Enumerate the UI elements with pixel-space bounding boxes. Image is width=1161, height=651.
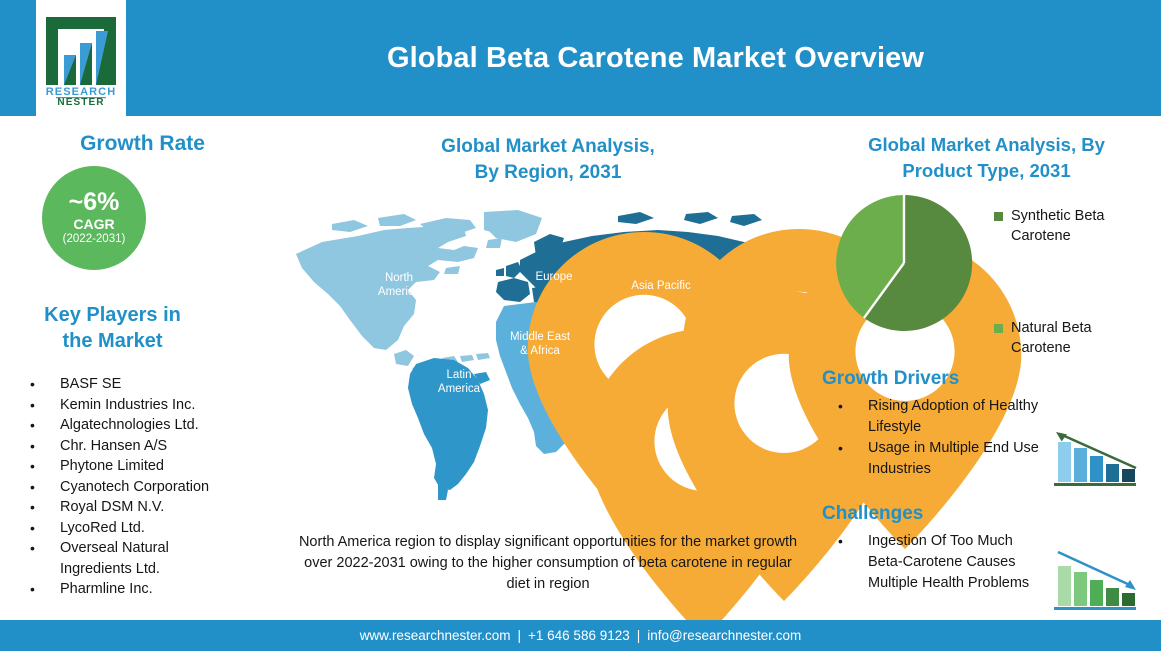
map-label-middle-east-africa: Middle East & Africa <box>494 331 586 358</box>
key-players-heading: Key Players in the Market <box>0 302 225 355</box>
legend-swatch-icon <box>994 212 1003 221</box>
world-map: North America Latin America Europe Middl… <box>288 208 808 518</box>
list-item-continuation: Lifestyle <box>830 417 1080 438</box>
challenge-text: Ingestion Of Too Much <box>868 533 1013 549</box>
product-heading-line1: Global Market Analysis, By <box>868 134 1105 155</box>
driver-text: Industries <box>868 461 931 477</box>
player-name: Overseal Natural <box>60 540 169 556</box>
bullet-icon: • <box>838 531 843 552</box>
logo-text-line2: NESTER <box>57 97 104 105</box>
player-name: Algatechnologies Ltd. <box>60 417 199 433</box>
player-name: Kemin Industries Inc. <box>60 397 195 413</box>
map-pin-europe[interactable] <box>539 229 569 269</box>
pie-chart-svg <box>834 193 974 333</box>
key-players-list: •BASF SE •Kemin Industries Inc. •Algatec… <box>22 374 287 600</box>
list-item: •Phytone Limited <box>22 456 287 477</box>
left-column: Growth Rate ~6% CAGR (2022-2031) Key Pla… <box>0 120 285 620</box>
footer-separator-2: | <box>630 628 648 643</box>
region-column: Global Market Analysis, By Region, 2031 <box>288 120 808 620</box>
map-label-asia-pacific: Asia Pacific <box>620 280 702 294</box>
list-item-continuation: Beta-Carotene Causes <box>830 552 1075 573</box>
pie-chart-legend: Synthetic Beta Carotene Natural Beta Car… <box>994 206 1161 358</box>
product-analysis-heading: Global Market Analysis, By Product Type,… <box>818 132 1155 183</box>
map-pin-middle-east-africa[interactable] <box>524 291 554 331</box>
player-name: Royal DSM N.V. <box>60 499 164 515</box>
list-item-continuation: Multiple Health Problems <box>830 573 1075 594</box>
bullet-icon: • <box>838 396 843 417</box>
region-analysis-heading: Global Market Analysis, By Region, 2031 <box>288 134 808 186</box>
map-caption-line3: consumption of beta carotene in regular … <box>506 555 791 592</box>
list-item: •Ingestion Of Too Much <box>830 531 1075 552</box>
right-column: Global Market Analysis, By Product Type,… <box>812 120 1161 620</box>
map-pin-north-america[interactable] <box>384 232 414 272</box>
list-item: •Kemin Industries Inc. <box>22 395 287 416</box>
map-label-europe: Europe <box>513 271 595 285</box>
list-item: •Chr. Hansen A/S <box>22 436 287 457</box>
legend-label-line1: Natural Beta <box>1011 320 1092 336</box>
challenges-list: •Ingestion Of Too Much Beta-Carotene Cau… <box>830 531 1075 594</box>
player-name: Phytone Limited <box>60 458 164 474</box>
list-item: •Overseal Natural <box>22 538 287 559</box>
list-item: •Rising Adoption of Healthy <box>830 396 1080 417</box>
list-item: •Royal DSM N.V. <box>22 497 287 518</box>
key-players-heading-line2: the Market <box>62 330 162 352</box>
legend-item-natural: Natural Beta Carotene <box>994 318 1161 358</box>
key-players-heading-line1: Key Players in <box>44 304 181 326</box>
challenge-text: Beta-Carotene Causes <box>868 554 1016 570</box>
bullet-icon: • <box>30 415 35 436</box>
bullet-icon: • <box>838 438 843 459</box>
challenge-text: Multiple Health Problems <box>868 575 1029 591</box>
region-heading-line2: By Region, 2031 <box>475 162 622 183</box>
footer-bar: www.researchnester.com | +1 646 586 9123… <box>0 620 1161 651</box>
list-item: •Usage in Multiple End Use <box>830 438 1080 459</box>
map-caption: North America region to display signific… <box>298 532 798 595</box>
player-name: Cyanotech Corporation <box>60 479 209 495</box>
cagr-period: (2022-2031) <box>63 232 126 247</box>
bullet-icon: • <box>30 497 35 518</box>
list-item-continuation: Industries <box>830 459 1080 480</box>
growth-rate-heading: Growth Rate <box>0 132 285 156</box>
list-item: •Cyanotech Corporation <box>22 477 287 498</box>
driver-text: Lifestyle <box>868 419 921 435</box>
legend-label-line2: Carotene <box>1011 228 1071 244</box>
map-pin-latin-america[interactable] <box>444 329 474 369</box>
player-name: BASF SE <box>60 376 121 392</box>
cagr-badge: ~6% CAGR (2022-2031) <box>42 166 146 270</box>
growth-drivers-list: •Rising Adoption of Healthy Lifestyle •U… <box>830 396 1080 480</box>
driver-text: Rising Adoption of Healthy <box>868 398 1038 414</box>
bullet-icon: • <box>30 579 35 600</box>
footer-separator-1: | <box>511 628 529 643</box>
cagr-metric-label: CAGR <box>73 216 114 232</box>
map-label-latin-america: Latin America <box>416 369 502 396</box>
region-label-line2: America <box>438 383 480 395</box>
logo-container: RESEARCH NESTER <box>36 0 126 116</box>
region-label-line1: Europe <box>535 271 572 283</box>
challenges-heading: Challenges <box>822 503 923 525</box>
list-item: •Algatechnologies Ltd. <box>22 415 287 436</box>
player-name: Chr. Hansen A/S <box>60 438 167 454</box>
legend-label-line2: Carotene <box>1011 340 1071 356</box>
region-label-line1: North <box>385 272 413 284</box>
region-label-line1: Asia Pacific <box>631 280 690 292</box>
bullet-icon: • <box>30 538 35 559</box>
legend-swatch-icon <box>994 324 1003 333</box>
map-label-north-america: North America <box>356 272 442 299</box>
legend-item-synthetic: Synthetic Beta Carotene <box>994 206 1161 246</box>
list-item-continuation: Ingredients Ltd. <box>22 559 287 580</box>
descending-bar-chart-with-down-arrow-icon <box>1050 550 1138 612</box>
region-label-line1: Latin <box>447 369 472 381</box>
bullet-icon: • <box>30 477 35 498</box>
bullet-icon: • <box>30 395 35 416</box>
region-label-line2: America <box>378 286 420 298</box>
footer-phone[interactable]: +1 646 586 9123 <box>528 628 630 643</box>
product-type-pie-chart <box>834 193 974 333</box>
map-arctic-islands <box>618 212 762 226</box>
legend-label-line1: Synthetic Beta <box>1011 208 1105 224</box>
player-name: LycoRed Ltd. <box>60 520 145 536</box>
region-label-line1: Middle East <box>510 331 570 343</box>
player-name: Pharmline Inc. <box>60 581 153 597</box>
page-title: Global Beta Carotene Market Overview <box>150 0 1161 116</box>
footer-website[interactable]: www.researchnester.com <box>360 628 511 643</box>
map-caption-line1: North America region to display signific… <box>299 534 677 550</box>
growth-drivers-heading: Growth Drivers <box>822 368 959 390</box>
driver-text: Usage in Multiple End Use <box>868 440 1039 456</box>
list-item: •BASF SE <box>22 374 287 395</box>
infographic-page: RESEARCH NESTER Global Beta Carotene Mar… <box>0 0 1161 651</box>
region-label-line2: & Africa <box>520 345 560 357</box>
bullet-icon: • <box>30 374 35 395</box>
bullet-icon: • <box>30 456 35 477</box>
product-heading-line2: Product Type, 2031 <box>902 160 1070 181</box>
list-item: •LycoRed Ltd. <box>22 518 287 539</box>
player-name: Ingredients Ltd. <box>60 561 160 577</box>
map-pin-asia-pacific[interactable] <box>645 239 675 279</box>
header-bar: RESEARCH NESTER Global Beta Carotene Mar… <box>0 0 1161 116</box>
bullet-icon: • <box>30 436 35 457</box>
list-item: •Pharmline Inc. <box>22 579 287 600</box>
footer-email[interactable]: info@researchnester.com <box>647 628 801 643</box>
descending-bar-chart-with-up-arrow-icon <box>1050 426 1138 488</box>
bullet-icon: • <box>30 518 35 539</box>
cagr-percent: ~6% <box>69 189 120 215</box>
region-heading-line1: Global Market Analysis, <box>441 136 655 157</box>
research-nester-logo: RESEARCH NESTER <box>42 11 120 105</box>
